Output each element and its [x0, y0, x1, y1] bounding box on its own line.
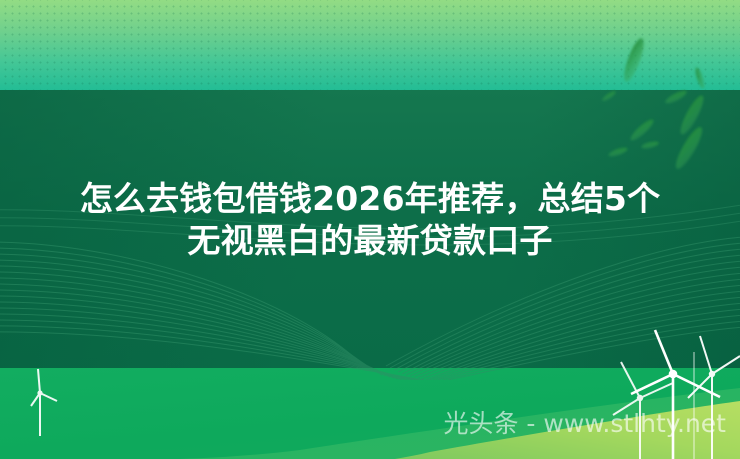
title-line-1: 怎么去钱包借钱2026年推荐，总结5个 [18, 178, 722, 220]
article-cover-banner: 怎么去钱包借钱2026年推荐，总结5个 无视黑白的最新贷款口子 光头条 - ww… [0, 0, 740, 459]
page-title: 怎么去钱包借钱2026年推荐，总结5个 无视黑白的最新贷款口子 [0, 178, 740, 262]
watermark-text: 光头条 - www.stlhty.net [443, 408, 726, 440]
title-line-2: 无视黑白的最新贷款口子 [18, 220, 722, 262]
